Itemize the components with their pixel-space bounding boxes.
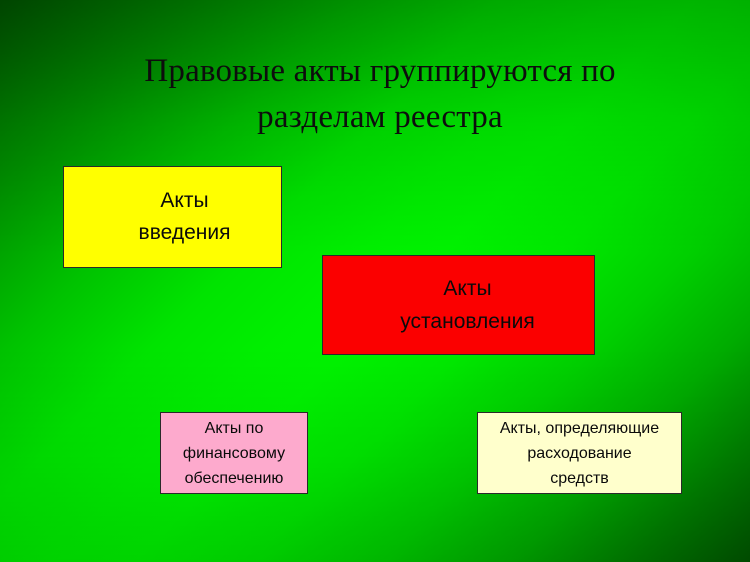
diagram-node-acts-on-financial-support[interactable]: Акты по финансовому обеспечению bbox=[160, 412, 308, 494]
diagram-node-line-3: обеспечению bbox=[161, 466, 307, 491]
diagram-node-line-2: введения bbox=[88, 217, 281, 249]
diagram-node-line-1: Акты bbox=[88, 185, 281, 217]
page-title-line-2: разделам реестра bbox=[60, 94, 700, 140]
page-title-line-1: Правовые акты группируются по bbox=[60, 48, 700, 94]
diagram-node-line-1: Акты bbox=[341, 272, 594, 305]
presentation-slide: Правовые акты группируются по разделам р… bbox=[0, 0, 750, 562]
page-title: Правовые акты группируются по разделам р… bbox=[60, 48, 700, 140]
diagram-node-acts-of-introduction[interactable]: Акты введения bbox=[63, 166, 282, 268]
diagram-node-line-3: средств bbox=[478, 466, 681, 491]
diagram-node-acts-of-establishment[interactable]: Акты установления bbox=[322, 255, 595, 355]
diagram-node-line-1: Акты, определяющие bbox=[478, 416, 681, 441]
diagram-node-line-1: Акты по bbox=[161, 416, 307, 441]
diagram-node-line-2: установления bbox=[341, 305, 594, 338]
diagram-node-line-2: расходование bbox=[478, 441, 681, 466]
diagram-node-label: Акты по финансовому обеспечению bbox=[161, 416, 307, 491]
diagram-node-line-2: финансовому bbox=[161, 441, 307, 466]
diagram-node-acts-defining-expenditure[interactable]: Акты, определяющие расходование средств bbox=[477, 412, 682, 494]
diagram-node-label: Акты, определяющие расходование средств bbox=[478, 416, 681, 491]
diagram-node-label: Акты введения bbox=[64, 185, 281, 249]
diagram-node-label: Акты установления bbox=[323, 272, 594, 338]
